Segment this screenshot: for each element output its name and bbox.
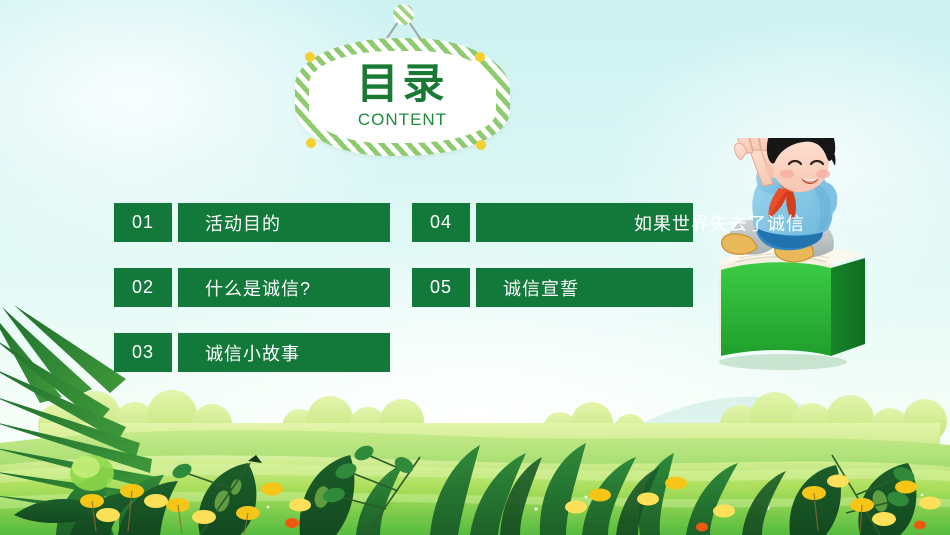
menu-label-box-05[interactable]: 诚信宣誓 xyxy=(476,268,693,307)
menu-label-box-04[interactable]: 如果世界失去了诚信 xyxy=(476,203,693,242)
menu-number-02: 02 xyxy=(114,268,172,307)
menu-number-01: 01 xyxy=(114,203,172,242)
contents-menu: 01 活动目的 02 什么是诚信? 03 诚信小故事 04 如果世界失去了诚信 … xyxy=(0,0,950,535)
menu-item-02[interactable]: 02 什么是诚信? xyxy=(114,268,390,307)
menu-item-01[interactable]: 01 活动目的 xyxy=(114,203,390,242)
menu-label-01: 活动目的 xyxy=(205,210,281,236)
menu-item-03[interactable]: 03 诚信小故事 xyxy=(114,333,390,372)
menu-label-box-02[interactable]: 什么是诚信? xyxy=(178,268,390,307)
menu-item-04[interactable]: 04 如果世界失去了诚信 xyxy=(412,203,693,242)
menu-label-04: 如果世界失去了诚信 xyxy=(634,210,805,236)
slide-canvas: 目录 CONTENT 01 活动目的 02 什么是诚信? 03 诚信小故事 xyxy=(0,0,950,535)
menu-item-05[interactable]: 05 诚信宣誓 xyxy=(412,268,693,307)
menu-label-box-03[interactable]: 诚信小故事 xyxy=(178,333,390,372)
menu-label-box-01[interactable]: 活动目的 xyxy=(178,203,390,242)
menu-label-03: 诚信小故事 xyxy=(205,340,300,366)
menu-label-02: 什么是诚信? xyxy=(205,275,311,301)
menu-number-03: 03 xyxy=(114,333,172,372)
menu-label-05: 诚信宣誓 xyxy=(503,275,579,301)
menu-number-05: 05 xyxy=(412,268,470,307)
menu-number-04: 04 xyxy=(412,203,470,242)
